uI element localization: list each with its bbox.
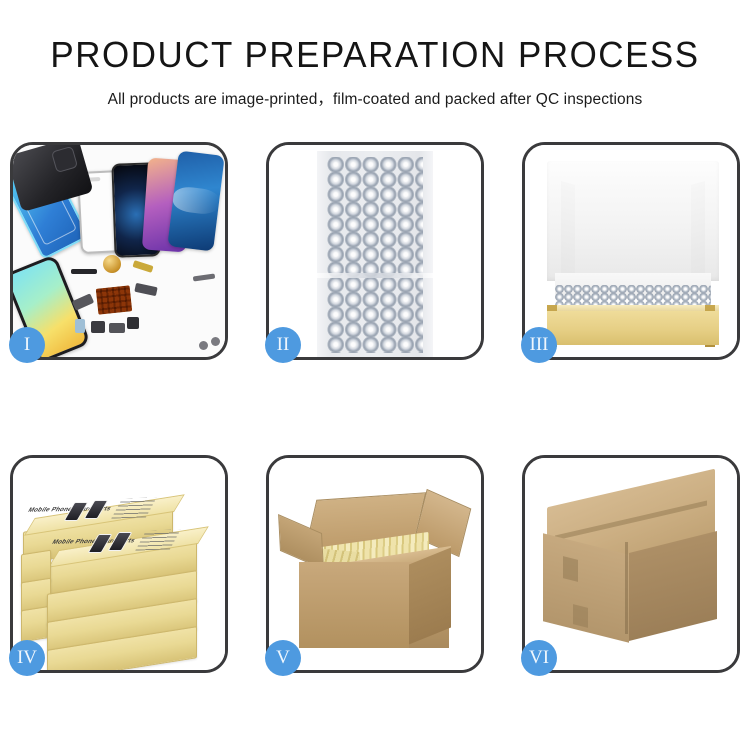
sealed-carton-tab-lower — [573, 604, 588, 628]
step-image-5 — [269, 458, 481, 670]
speaker-coil — [103, 255, 121, 273]
wrap-seam — [317, 273, 433, 278]
step-image-1 — [13, 145, 225, 357]
scene-bubble-wrap — [269, 145, 481, 357]
step-image-4: Mobile Phone Spare Parts Mobile Phone Sp… — [13, 458, 225, 670]
step-badge-4: IV — [9, 640, 45, 676]
scene-inner-box — [525, 145, 737, 357]
step-badge-6: VI — [521, 640, 557, 676]
step-badge-3: III — [521, 327, 557, 363]
scene-carton-sealed — [525, 458, 737, 670]
part-connector — [72, 293, 94, 310]
sealed-carton-tab-upper — [563, 556, 578, 582]
step-image-3 — [525, 145, 737, 357]
steps-grid: I II — [10, 142, 740, 674]
step-badge-2: II — [265, 327, 301, 363]
step-image-2 — [269, 145, 481, 357]
step-panel-5[interactable]: V — [266, 455, 484, 673]
box-front-panel — [547, 311, 719, 345]
step-panel-1[interactable]: I — [10, 142, 228, 360]
part-antenna-strip — [193, 273, 215, 281]
step-panel-6[interactable]: VI — [522, 455, 740, 673]
sealed-carton-corner-fold — [625, 542, 628, 634]
part-screw-a — [199, 341, 208, 350]
part-battery-tab — [91, 321, 105, 333]
bubble-pattern-shadow — [327, 157, 423, 353]
part-screw-b — [211, 337, 220, 346]
product-preparation-process-infographic: PRODUCT PREPARATION PROCESS All products… — [0, 0, 750, 750]
step-badge-5: V — [265, 640, 301, 676]
part-gold-bracket — [132, 260, 153, 273]
carton-side-panel — [409, 548, 451, 645]
part-camera-module — [134, 283, 157, 296]
step-panel-4[interactable]: Mobile Phone Spare Parts Mobile Phone Sp… — [10, 455, 228, 673]
part-vibrator — [127, 317, 139, 329]
step-badge-1: I — [9, 327, 45, 363]
step-panel-3[interactable]: III — [522, 142, 740, 360]
box-stack: Mobile Phone Spare Parts Mobile Phone Sp… — [17, 476, 225, 666]
carton-front-panel — [299, 570, 409, 648]
part-flex-cable — [71, 269, 97, 274]
scene-phones-and-parts — [13, 145, 225, 357]
part-shield-can — [109, 323, 125, 333]
header: PRODUCT PREPARATION PROCESS All products… — [0, 0, 750, 109]
page-subtitle: All products are image-printed，film-coat… — [0, 76, 750, 109]
scene-stacked-boxes: Mobile Phone Spare Parts Mobile Phone Sp… — [13, 458, 225, 670]
step-image-6 — [525, 458, 737, 670]
part-sim-tray — [75, 319, 85, 333]
scene-carton-filled — [269, 458, 481, 670]
box-lid — [547, 161, 719, 281]
page-title: PRODUCT PREPARATION PROCESS — [11, 0, 739, 76]
chip-board — [96, 285, 133, 314]
step-panel-2[interactable]: II — [266, 142, 484, 360]
